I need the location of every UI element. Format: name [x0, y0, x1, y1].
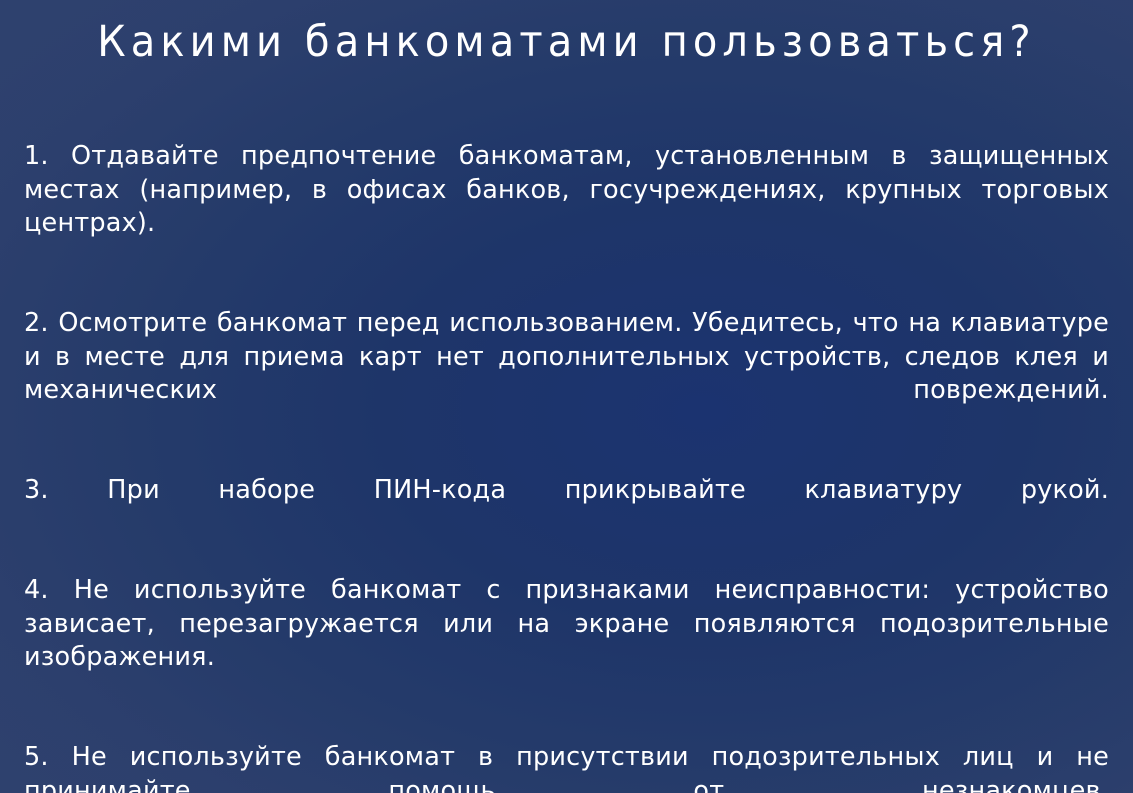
list-item: 2. Осмотрите банкомат перед использовани… [24, 307, 1109, 441]
list-item: 1. Отдавайте предпочтение банкоматам, ус… [24, 140, 1109, 274]
list-item: 3. При наборе ПИН-кода прикрывайте клави… [24, 474, 1109, 541]
list-item: 4. Не используйте банкомат с признаками … [24, 574, 1109, 708]
slide-body-list: 1. Отдавайте предпочтение банкоматам, ус… [24, 140, 1109, 793]
slide-title: Какими банкоматами пользоваться? [40, 16, 1094, 68]
presentation-slide: Какими банкоматами пользоваться? 1. Отда… [0, 0, 1133, 793]
list-item: 5. Не используйте банкомат в присутствии… [24, 741, 1109, 793]
slide-content: Какими банкоматами пользоваться? 1. Отда… [0, 0, 1133, 793]
